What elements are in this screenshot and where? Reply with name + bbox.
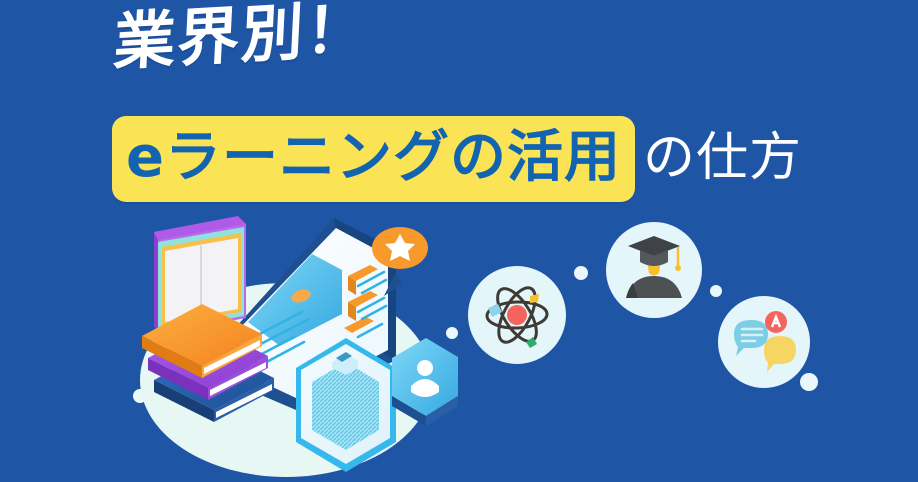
graduate-icon — [606, 222, 702, 318]
page-title-line-1: 業界別！ — [112, 0, 371, 74]
atom-icon — [468, 266, 566, 364]
decorative-dot-3 — [574, 266, 588, 280]
isometric-illustration — [96, 210, 476, 475]
page-title-line-2: eラーニングの活用 の仕方 — [112, 116, 802, 202]
chat-bubbles-icon — [718, 296, 810, 388]
page-title-highlight: eラーニングの活用 — [112, 116, 635, 202]
banner-root: 業界別！ eラーニングの活用 の仕方 — [0, 0, 918, 482]
page-title-tail: の仕方 — [643, 132, 802, 186]
